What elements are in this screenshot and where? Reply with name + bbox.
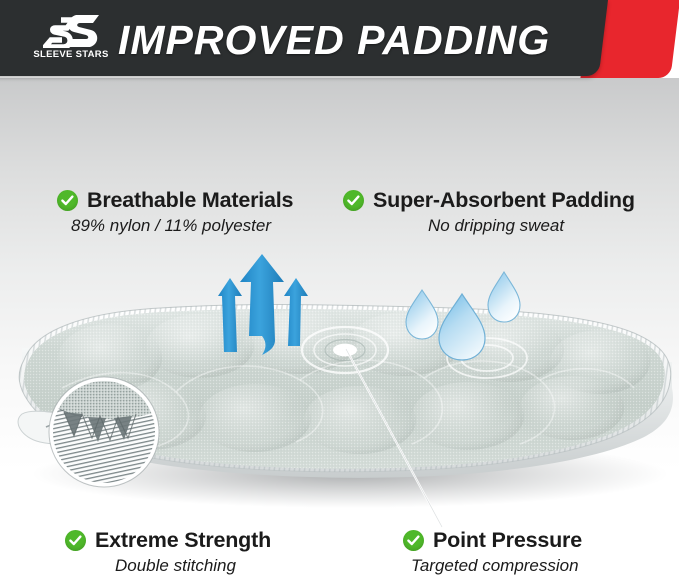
arrow-center bbox=[240, 254, 284, 355]
brand-logo: SLEEVE STARS bbox=[27, 14, 115, 66]
product-illustration bbox=[0, 296, 679, 511]
droplet-left bbox=[406, 290, 438, 339]
green-check-icon bbox=[403, 530, 424, 551]
stitch-magnifier-icon bbox=[48, 376, 160, 488]
feature-subtitle: Double stitching bbox=[115, 556, 271, 576]
sleeve-stars-s-logo-icon bbox=[43, 14, 101, 48]
infographic-canvas: SLEEVE STARS IMPROVED PADDING Breathable… bbox=[0, 0, 679, 581]
green-check-icon bbox=[57, 190, 78, 211]
droplet-right bbox=[488, 272, 520, 322]
feature-point-pressure: Point Pressure Targeted compression bbox=[403, 528, 582, 576]
airflow-arrows-icon bbox=[196, 252, 328, 360]
arrow-left bbox=[218, 278, 242, 352]
feature-extreme-strength: Extreme Strength Double stitching bbox=[65, 528, 271, 576]
green-check-icon bbox=[343, 190, 364, 211]
feature-subtitle: 89% nylon / 11% polyester bbox=[71, 216, 293, 236]
brand-name: SLEEVE STARS bbox=[27, 49, 115, 60]
feature-subtitle: No dripping sweat bbox=[428, 216, 635, 236]
feature-subtitle: Targeted compression bbox=[411, 556, 582, 576]
green-check-icon bbox=[65, 530, 86, 551]
feature-title: Super-Absorbent Padding bbox=[373, 188, 635, 213]
header-banner: SLEEVE STARS IMPROVED PADDING bbox=[0, 0, 679, 82]
feature-title: Breathable Materials bbox=[87, 188, 293, 213]
feature-super-absorbent-padding: Super-Absorbent Padding No dripping swea… bbox=[343, 188, 635, 236]
arrow-right bbox=[284, 278, 308, 346]
feature-title: Extreme Strength bbox=[95, 528, 271, 553]
callout-leader-line bbox=[320, 341, 480, 531]
page-title: IMPROVED PADDING bbox=[118, 10, 550, 70]
feature-breathable-materials: Breathable Materials 89% nylon / 11% pol… bbox=[57, 188, 293, 236]
feature-title: Point Pressure bbox=[433, 528, 582, 553]
